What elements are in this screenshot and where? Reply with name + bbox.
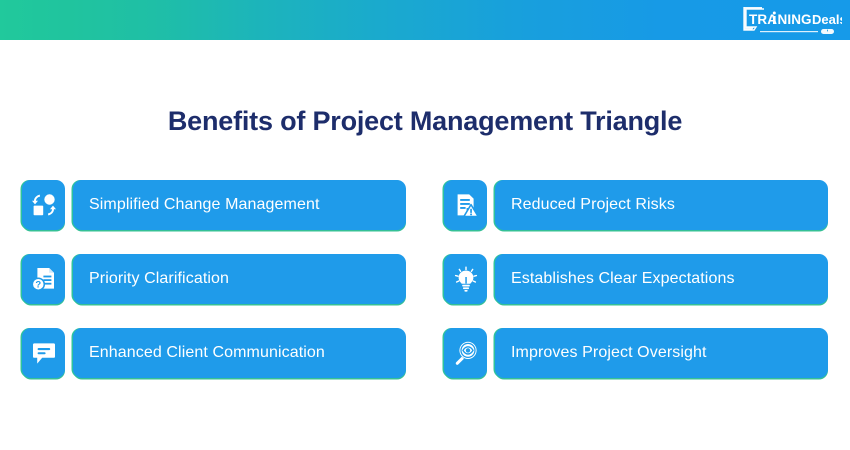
benefits-row: Enhanced Client Communication Improves P… xyxy=(22,328,828,378)
document-question-icon: ? xyxy=(22,254,65,304)
benefit-item-improves-project-oversight[interactable]: Improves Project Oversight xyxy=(444,328,828,378)
svg-text:NING: NING xyxy=(778,12,812,27)
benefit-item-reduced-project-risks[interactable]: Reduced Project Risks xyxy=(444,180,828,230)
benefit-item-enhanced-client-communication[interactable]: Enhanced Client Communication xyxy=(22,328,406,378)
svg-text:Deals: Deals xyxy=(812,12,842,27)
benefit-label: Simplified Change Management xyxy=(73,180,406,230)
header-bar: TRA NING Deals xyxy=(0,0,850,40)
svg-text:?: ? xyxy=(35,280,41,291)
svg-text:TRA: TRA xyxy=(749,12,777,27)
benefits-row: Simplified Change Management Reduced Pro… xyxy=(22,180,828,230)
benefit-label: Reduced Project Risks xyxy=(495,180,828,230)
document-warning-icon xyxy=(444,180,487,230)
magnifier-eye-icon xyxy=(444,328,487,378)
change-swap-icon xyxy=(22,180,65,230)
benefit-item-establishes-clear-expectations[interactable]: Establishes Clear Expectations xyxy=(444,254,828,304)
benefit-label: Establishes Clear Expectations xyxy=(495,254,828,304)
benefit-label: Priority Clarification xyxy=(73,254,406,304)
page-title: Benefits of Project Management Triangle xyxy=(0,106,850,137)
benefits-row: ? Priority Clarification xyxy=(22,254,828,304)
benefits-grid: Simplified Change Management Reduced Pro… xyxy=(22,180,828,378)
benefit-item-priority-clarification[interactable]: ? Priority Clarification xyxy=(22,254,406,304)
benefit-label: Improves Project Oversight xyxy=(495,328,828,378)
chat-bubble-icon xyxy=(22,328,65,378)
benefit-item-simplified-change-management[interactable]: Simplified Change Management xyxy=(22,180,406,230)
training-deals-logo[interactable]: TRA NING Deals xyxy=(738,4,842,36)
benefit-label: Enhanced Client Communication xyxy=(73,328,406,378)
lightbulb-icon xyxy=(444,254,487,304)
